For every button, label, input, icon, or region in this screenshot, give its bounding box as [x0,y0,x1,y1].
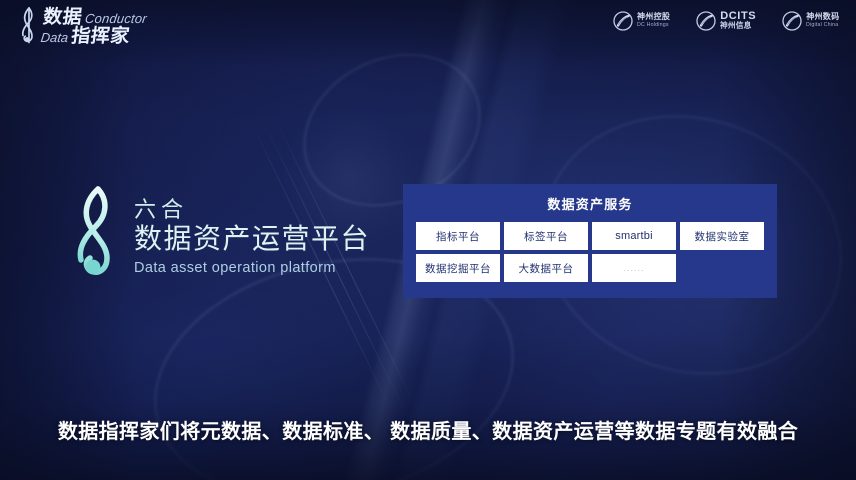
product-title-line2: 数据资产运营平台 [134,222,370,256]
service-card-dashuju[interactable]: 大数据平台 [504,254,588,282]
partner-name-cn: 神州控股 [637,13,670,22]
partner-text: DCITS 神州信息 [720,10,756,31]
partner-logo-dcits[interactable]: DCITS 神州信息 [696,10,756,31]
partner-logo-dc-holdings[interactable]: 神州控股 DC Holdings [613,11,670,31]
product-lockup: 六合 数据资产运营平台 Data asset operation platfor… [66,182,370,290]
partner-logo-group: 神州控股 DC Holdings DCITS 神州信息 [613,10,840,31]
brand-cn-top: 数据 [42,8,83,27]
partner-name-en: Digital China [806,22,838,28]
partner-text: 神州控股 DC Holdings [637,13,670,28]
partner-name-en: 神州信息 [720,22,755,31]
partner-text: 神州数码 Digital China [806,13,840,28]
service-card-wajue[interactable]: 数据挖掘平台 [416,254,500,282]
partner-logo-digital-china[interactable]: 神州数码 Digital China [782,11,840,31]
swoosh-logo-icon [782,11,802,31]
treble-clef-icon [66,182,128,290]
product-title-line1: 六合 [134,196,370,224]
slide-canvas: 数据 Conductor Data 指挥家 [0,0,856,480]
brand-cn-bottom: 指挥家 [70,27,131,46]
product-subtitle-en: Data asset operation platform [134,260,370,276]
brand-line-2: Data 指挥家 [40,27,146,46]
slide-caption: 数据指挥家们将元数据、数据标准、 数据质量、数据资产运营等数据专题有效融合 [0,415,856,444]
data-asset-service-panel: 数据资产服务 指标平台 标签平台 smartbi 数据实验室 数据挖掘平台 大数… [403,184,777,298]
swoosh-logo-icon [613,11,633,31]
service-card-smartbi[interactable]: smartbi [592,222,676,250]
panel-title: 数据资产服务 [403,184,777,213]
service-card-more[interactable]: ...... [592,254,676,282]
service-card-zhibiao[interactable]: 指标平台 [416,222,500,250]
partner-name-cn: 神州数码 [806,13,840,22]
service-card-shiyanshi[interactable]: 数据实验室 [680,222,764,250]
brand-en-data: Data [40,31,69,44]
treble-clef-icon [18,5,40,49]
product-title-block: 六合 数据资产运营平台 Data asset operation platfor… [134,196,370,277]
partner-name-en: DC Holdings [637,22,669,28]
service-card-row: 数据挖掘平台 大数据平台 ...... [416,254,777,282]
brand-wordmark: 数据 Conductor Data 指挥家 [40,8,149,47]
brand-line-1: 数据 Conductor [42,8,148,27]
swoosh-logo-icon [696,11,716,31]
service-card-biaoqian[interactable]: 标签平台 [504,222,588,250]
service-card-grid: 指标平台 标签平台 smartbi 数据实验室 数据挖掘平台 大数据平台 ...… [416,222,777,282]
brand-logo[interactable]: 数据 Conductor Data 指挥家 [18,4,146,50]
brand-en-conductor: Conductor [84,12,147,25]
service-card-row: 指标平台 标签平台 smartbi 数据实验室 [416,222,777,250]
top-bar: 数据 Conductor Data 指挥家 [0,0,856,56]
